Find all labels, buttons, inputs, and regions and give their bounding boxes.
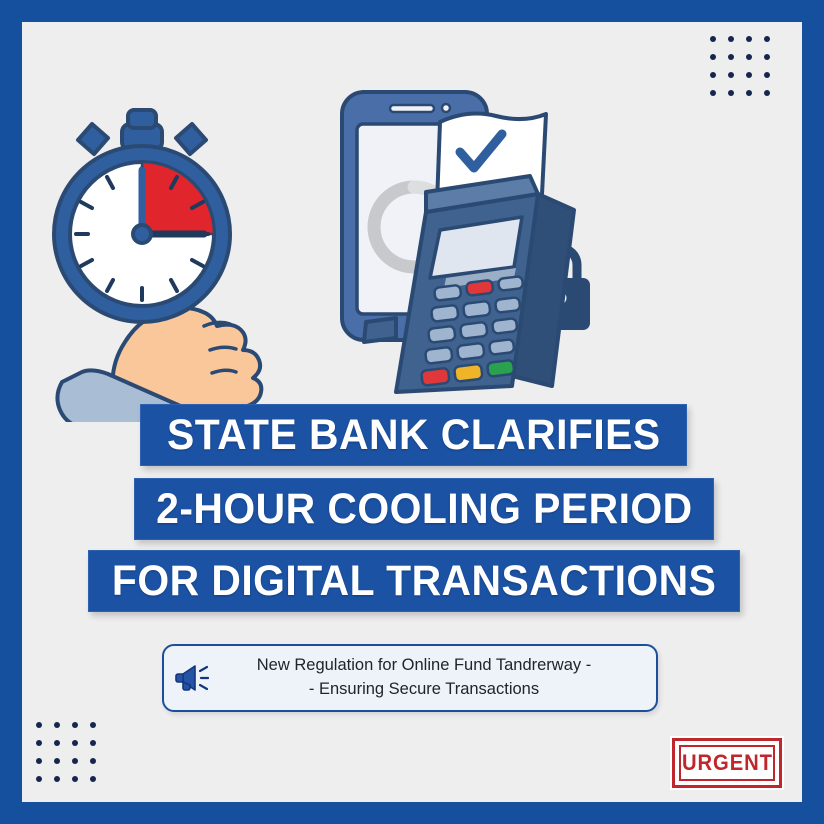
subtitle-text: New Regulation for Online Fund Tandrerwa…: [220, 654, 656, 702]
headline-band-3: FOR DIGITAL TRANSACTIONS: [88, 550, 740, 612]
headline-band-2: 2-HOUR COOLING PERIOD: [134, 478, 714, 540]
urgent-stamp-inner-border: URGENT: [679, 745, 775, 781]
stopwatch-icon: [54, 110, 230, 322]
poster: STATE BANK CLARIFIES 2-HOUR COOLING PERI…: [0, 0, 824, 824]
headline-line-3: FOR DIGITAL TRANSACTIONS: [112, 557, 716, 606]
subtitle-line-2: - Ensuring Secure Transactions: [220, 678, 628, 702]
urgent-stamp-label: URGENT: [682, 750, 773, 776]
digital-transaction-illustration: [22, 82, 802, 422]
headline-group: STATE BANK CLARIFIES 2-HOUR COOLING PERI…: [22, 404, 802, 612]
poster-inner-panel: STATE BANK CLARIFIES 2-HOUR COOLING PERI…: [22, 22, 802, 802]
headline-line-1: STATE BANK CLARIFIES: [167, 411, 661, 460]
subtitle-line-1: New Regulation for Online Fund Tandrerwa…: [220, 654, 628, 678]
headline-band-1: STATE BANK CLARIFIES: [140, 404, 687, 466]
subtitle-banner: New Regulation for Online Fund Tandrerwa…: [162, 644, 658, 712]
headline-line-2: 2-HOUR COOLING PERIOD: [156, 485, 693, 534]
urgent-stamp: URGENT: [672, 738, 782, 788]
megaphone-icon: [164, 663, 220, 693]
dot-grid-bottom-left-icon: [36, 722, 100, 786]
